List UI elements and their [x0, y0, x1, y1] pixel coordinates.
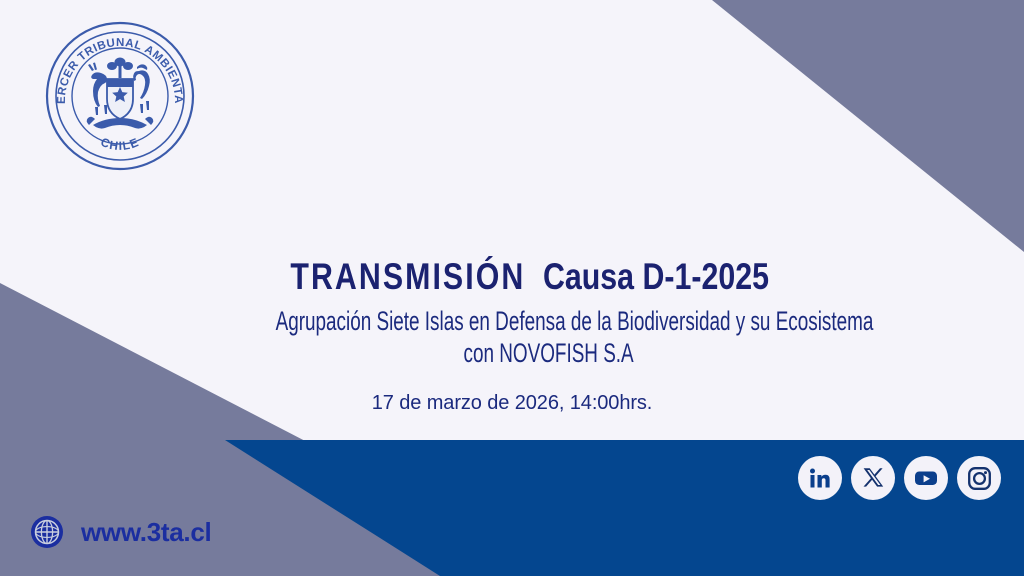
hearing-datetime: 17 de marzo de 2026, 14:00hrs. [0, 392, 1024, 415]
tribunal-seal-logo: TERCER TRIBUNAL AMBIENTAL CHILE [45, 21, 195, 171]
title-kicker: TRANSMISIÓN [290, 256, 525, 297]
huemul-supporter [88, 63, 107, 116]
shield-chief [107, 79, 133, 87]
coat-of-arms-emblem [87, 58, 154, 129]
social-link-linkedin[interactable] [798, 456, 842, 500]
broadcast-announcement-slide: TERCER TRIBUNAL AMBIENTAL CHILE [0, 0, 1024, 576]
youtube-icon [913, 465, 939, 491]
website-link[interactable]: www.3ta.cl [30, 515, 211, 549]
globe-icon [30, 515, 64, 549]
crest-plume [107, 58, 133, 79]
x-twitter-icon [861, 466, 885, 490]
base-scroll [87, 117, 154, 129]
case-number: Causa D-1-2025 [543, 256, 769, 297]
social-link-youtube[interactable] [904, 456, 948, 500]
condor-supporter [133, 64, 150, 113]
instagram-icon [967, 466, 992, 491]
linkedin-icon [808, 466, 832, 490]
title-spacer [525, 256, 543, 297]
website-url: www.3ta.cl [81, 517, 211, 548]
social-link-instagram[interactable] [957, 456, 1001, 500]
social-link-x-twitter[interactable] [851, 456, 895, 500]
case-parties: Agrupación Siete Islas en Defensa de la … [276, 305, 822, 369]
case-parties-line-2: con NOVOFISH S.A [276, 337, 822, 369]
seal-bottom-text: CHILE [99, 135, 142, 153]
case-parties-line-1: Agrupación Siete Islas en Defensa de la … [276, 306, 874, 336]
social-links [798, 456, 1001, 500]
